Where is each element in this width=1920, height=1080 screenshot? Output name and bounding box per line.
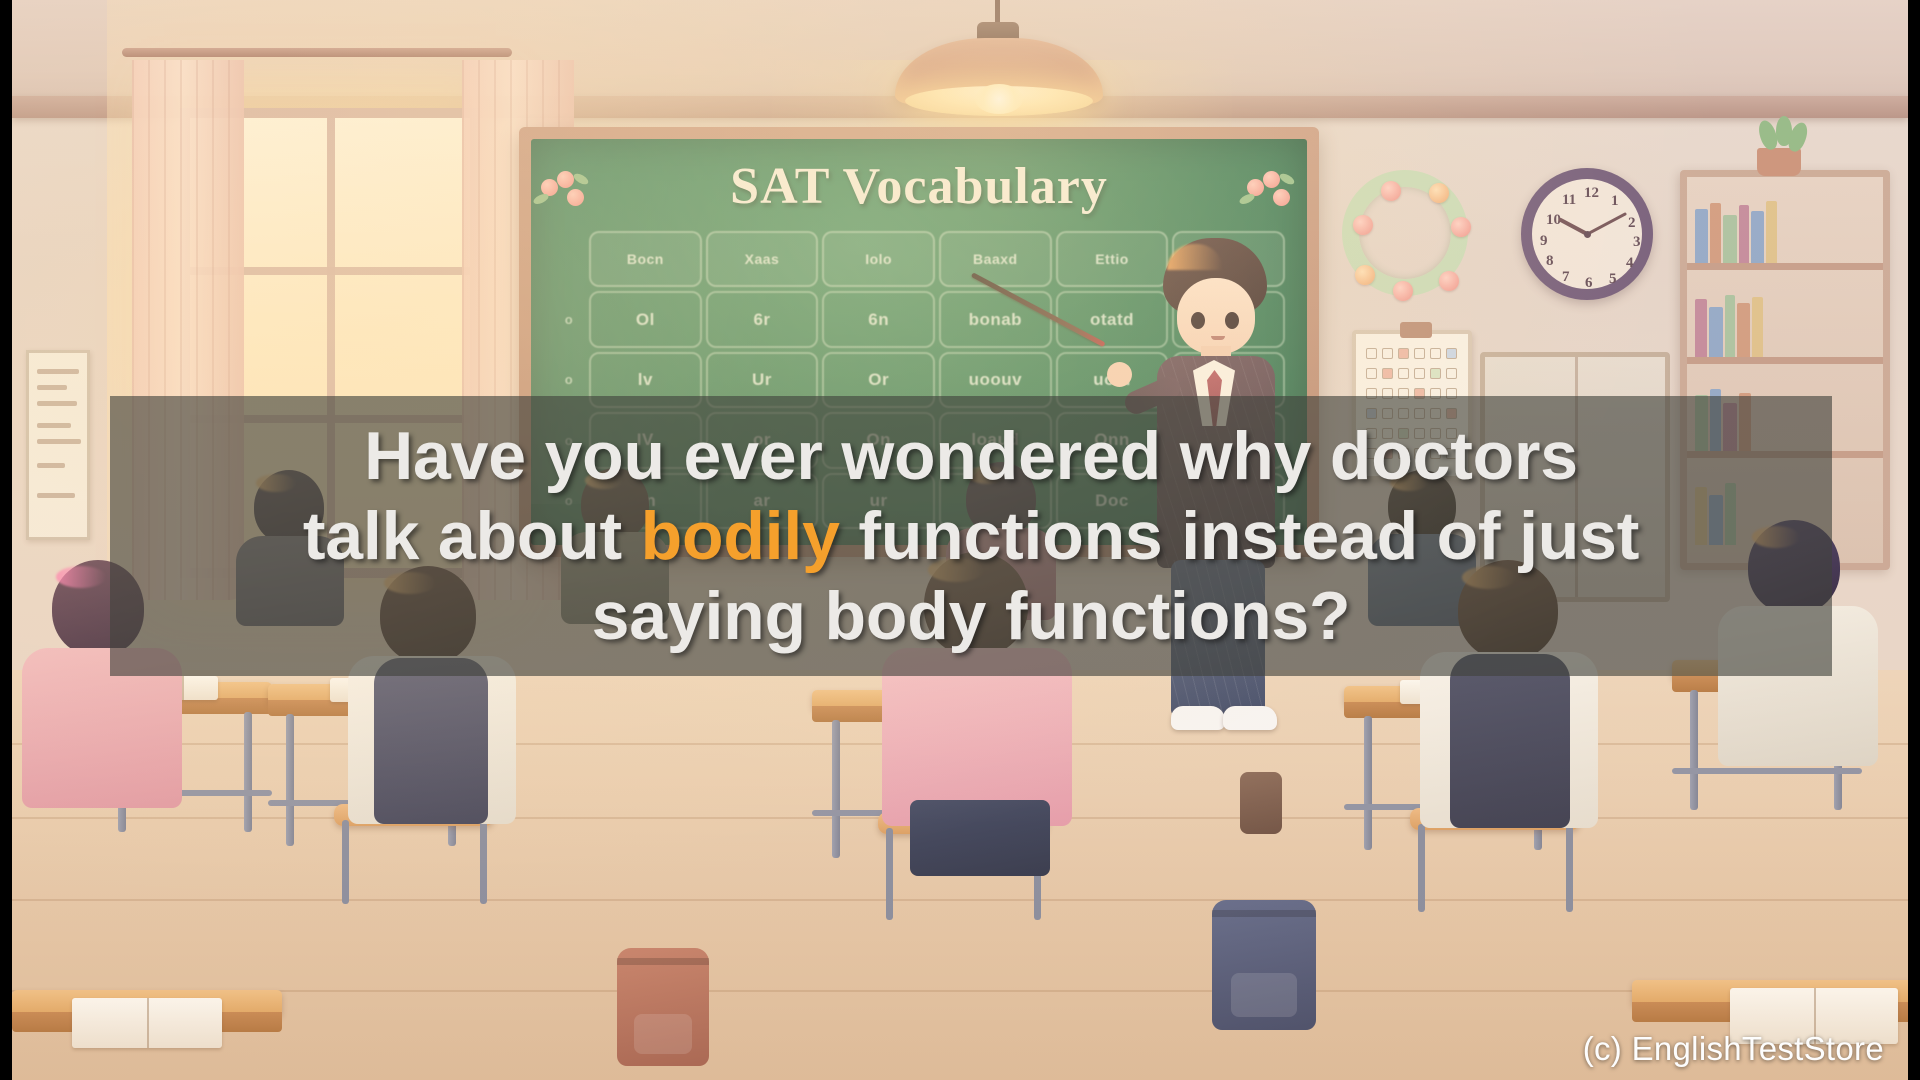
clock-minute-hand	[1586, 212, 1626, 235]
backpack-teacher-side	[1240, 772, 1282, 834]
caption-line-2-after: functions instead of just	[840, 498, 1639, 574]
clock-numeral: 8	[1546, 253, 1554, 270]
highlight-word: bodily	[641, 498, 840, 574]
backpack-left	[617, 948, 709, 1066]
wall-clock: 12 1 2 3 4 5 6 7 8 9 10 11	[1521, 168, 1653, 300]
table-cell: 6r	[706, 291, 819, 347]
caption-overlay: Have you ever wondered why doctors talk …	[110, 396, 1832, 676]
plant-pot	[1757, 148, 1801, 176]
clock-numeral: 2	[1628, 215, 1636, 232]
clock-numeral: 6	[1585, 275, 1593, 292]
table-header: Bocn	[589, 231, 702, 287]
flower-decor-left	[539, 169, 593, 215]
clock-numeral: 9	[1540, 233, 1548, 250]
chart-clip	[1400, 322, 1432, 338]
caption-line-2: talk about bodily functions instead of j…	[303, 496, 1639, 576]
table-cell: Ol	[589, 291, 702, 347]
table-cell: 6n	[822, 291, 935, 347]
table-corner	[553, 231, 585, 287]
backpack-center	[1212, 900, 1316, 1030]
clock-numeral: 5	[1609, 271, 1617, 288]
screenshot-canvas: SAT Vocabulary Bocn Xaas Iolo Baaxd Etti…	[0, 0, 1920, 1080]
clock-numeral: 12	[1584, 185, 1599, 202]
wall-poster	[26, 350, 90, 540]
caption-line-2-before: talk about	[303, 498, 641, 574]
clock-numeral: 3	[1633, 234, 1641, 251]
clock-numeral: 11	[1562, 192, 1576, 209]
clock-numeral: 1	[1611, 193, 1619, 210]
open-book-bottom-left	[72, 998, 222, 1048]
wreath-right	[1342, 170, 1468, 296]
chalkboard-title: SAT Vocabulary	[531, 157, 1307, 216]
table-cell: bonab	[939, 291, 1052, 347]
caption-line-3: saying body functions?	[592, 576, 1351, 656]
table-header: Xaas	[706, 231, 819, 287]
classroom-illustration: SAT Vocabulary Bocn Xaas Iolo Baaxd Etti…	[12, 0, 1908, 1080]
caption-line-1: Have you ever wondered why doctors	[364, 416, 1578, 496]
clock-center-pin	[1584, 231, 1591, 238]
lamp-bulb	[975, 84, 1023, 114]
curtain-rod	[122, 48, 512, 57]
table-header: Baaxd	[939, 231, 1052, 287]
table-row-bullet: o	[553, 291, 585, 347]
clock-numeral: 7	[1562, 269, 1570, 286]
flower-decor-right	[1245, 169, 1299, 215]
clock-numeral: 4	[1626, 255, 1634, 272]
watermark: (c) EnglishTestStore	[1583, 1030, 1884, 1068]
table-header: Iolo	[822, 231, 935, 287]
